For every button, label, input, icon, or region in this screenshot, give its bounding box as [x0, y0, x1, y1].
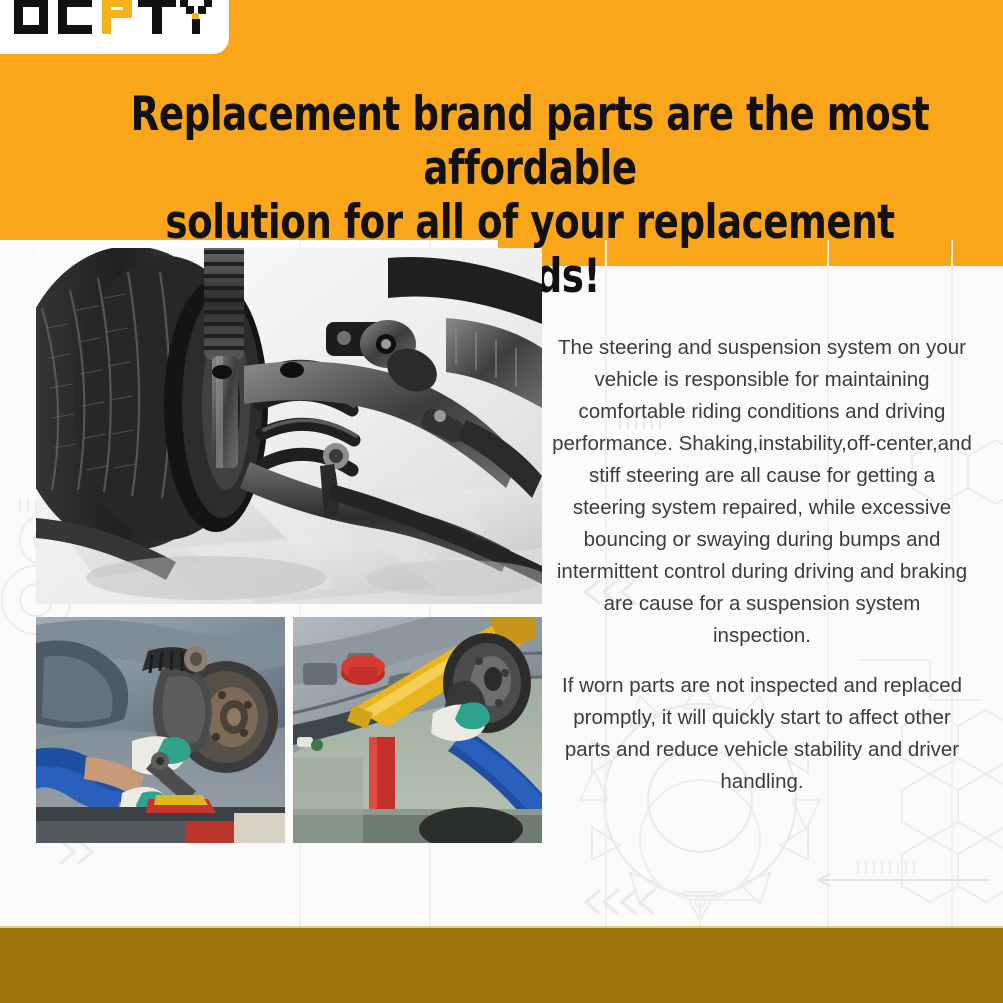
mechanic-brake-rotor-illustration-icon — [36, 617, 285, 843]
headline-line-1: Replacement brand parts are the most aff… — [116, 88, 943, 196]
body-copy: The steering and suspension system on yo… — [552, 332, 972, 798]
brand-logo — [14, 0, 214, 38]
footer-band — [0, 928, 1003, 1003]
suspension-assembly-illustration-icon — [36, 248, 542, 604]
ocpty-logo-icon — [14, 0, 214, 38]
mechanic-brake-rotor-photo — [36, 617, 285, 843]
vehicle-on-lift-illustration-icon — [293, 617, 542, 843]
marketing-banner-page: Replacement brand parts are the most aff… — [0, 0, 1003, 1003]
vehicle-on-lift-photo — [293, 617, 542, 843]
body-paragraph-2: If worn parts are not inspected and repl… — [552, 670, 972, 798]
suspension-assembly-photo — [36, 248, 542, 604]
body-paragraph-1: The steering and suspension system on yo… — [552, 332, 972, 652]
brand-logo-badge — [0, 0, 229, 54]
